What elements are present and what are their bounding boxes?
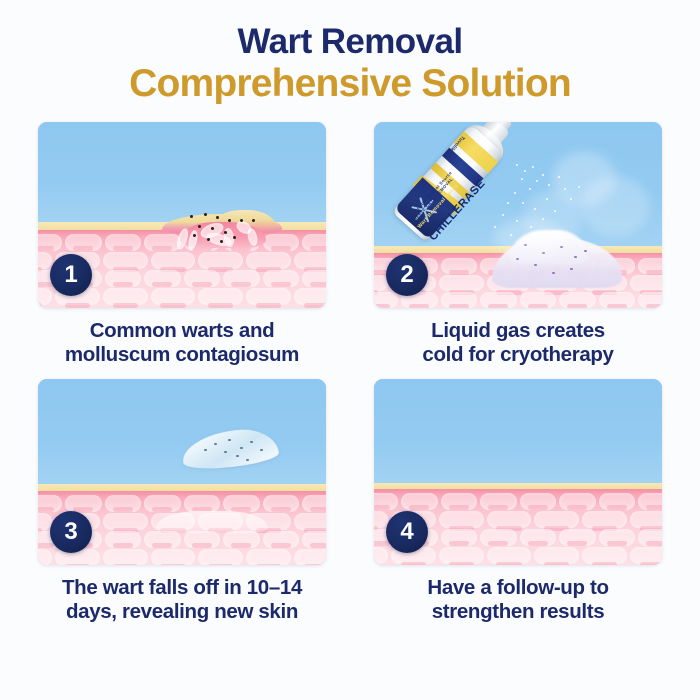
- skin-cell: [534, 547, 579, 564]
- skin-cell: [184, 270, 221, 287]
- skin-cell: [144, 495, 181, 512]
- skin-cell: [630, 511, 662, 528]
- step-2-caption-line1: Liquid gas creates: [431, 319, 605, 342]
- skin-cell: [151, 252, 196, 269]
- steps-grid: 1 Common warts and molluscum contagiosum: [38, 122, 662, 624]
- skin-cell: [441, 529, 478, 546]
- step-1-illustration: 1: [38, 122, 326, 308]
- skin-cell: [374, 547, 388, 564]
- skin-cell: [65, 234, 102, 251]
- skin-cell: [103, 252, 148, 269]
- skin-cell: [439, 547, 484, 564]
- step-card-2: Tuvolika CHILLERASE Wart Removal Spray F…: [374, 122, 662, 367]
- skin-cell: [38, 288, 52, 305]
- page-title-line2: Comprehensive Solution: [0, 62, 700, 106]
- skin-cell: [441, 493, 478, 510]
- step-4-caption-line1: Have a follow-up to: [427, 576, 608, 599]
- skin-cell: [65, 495, 102, 512]
- skin-cell: [487, 547, 532, 564]
- step-1-caption-line2: molluscum contagiosum: [38, 343, 326, 367]
- step-number-badge-1: 1: [50, 254, 92, 296]
- step-1-caption: Common warts and molluscum contagiosum: [38, 319, 326, 367]
- skin-cell: [105, 234, 142, 251]
- skin-cell: [263, 270, 300, 287]
- skin-cell: [480, 529, 517, 546]
- skin-cell: [582, 547, 627, 564]
- skin-cell: [246, 549, 291, 565]
- skin-cell: [302, 234, 326, 251]
- step-card-1: 1 Common warts and molluscum contagiosum: [38, 122, 326, 367]
- skin-cell: [302, 270, 326, 287]
- step-2-caption-line2: cold for cryotherapy: [374, 343, 662, 367]
- skin-cell: [263, 495, 300, 512]
- skin-cell: [599, 493, 636, 510]
- skin-cell: [294, 288, 326, 305]
- skin-cell: [302, 495, 326, 512]
- step-3-caption: The wart falls off in 10–14 days, reveal…: [38, 576, 326, 624]
- skin-cell: [263, 531, 300, 548]
- skin-cell: [401, 493, 438, 510]
- step-1-caption-line1: Common warts and: [90, 319, 275, 342]
- skin-cell: [151, 549, 196, 565]
- step-number-badge-3: 3: [50, 511, 92, 553]
- skin-cell: [246, 252, 291, 269]
- skin-cell: [534, 511, 579, 528]
- step-4-caption: Have a follow-up to strengthen results: [374, 576, 662, 624]
- skin-cell: [198, 288, 243, 305]
- skin-cell: [38, 549, 52, 565]
- healing-skin-patch: [156, 511, 268, 533]
- skin-cell: [246, 288, 291, 305]
- skin-cell: [38, 495, 62, 512]
- skin-cell: [638, 529, 662, 546]
- skin-cell: [144, 270, 181, 287]
- skin-cell: [520, 493, 557, 510]
- skin-cell: [105, 531, 142, 548]
- skin-cell: [638, 493, 662, 510]
- skin-cell: [294, 252, 326, 269]
- skin-cell: [559, 529, 596, 546]
- skin-cell: [559, 493, 596, 510]
- step-card-4: 4 Have a follow-up to strengthen results: [374, 379, 662, 624]
- skin-cell: [144, 531, 181, 548]
- skin-cell: [302, 531, 326, 548]
- step-4-caption-line2: strengthen results: [374, 600, 662, 624]
- skin-cell: [103, 549, 148, 565]
- skin-cell: [105, 270, 142, 287]
- skin-cell: [103, 513, 148, 530]
- skin-cell: [599, 529, 636, 546]
- skin-cell: [223, 270, 260, 287]
- skin-cell: [439, 511, 484, 528]
- step-4-illustration: 4: [374, 379, 662, 565]
- step-number-badge-2: 2: [386, 254, 428, 296]
- skin-cell: [198, 252, 243, 269]
- skin-cell: [294, 549, 326, 565]
- skin-cell: [151, 288, 196, 305]
- step-3-caption-line2: days, revealing new skin: [38, 600, 326, 624]
- skin-cell: [38, 234, 62, 251]
- skin-cell: [38, 252, 52, 269]
- skin-cell: [520, 529, 557, 546]
- skin-cell: [223, 531, 260, 548]
- step-number-badge-4: 4: [386, 511, 428, 553]
- step-2-caption: Liquid gas creates cold for cryotherapy: [374, 319, 662, 367]
- skin-cell: [582, 511, 627, 528]
- step-card-3: 3 The wart falls off in 10–14 days, reve…: [38, 379, 326, 624]
- page-title-line1: Wart Removal: [0, 22, 700, 61]
- skin-cell: [630, 547, 662, 564]
- step-3-caption-line1: The wart falls off in 10–14: [62, 576, 302, 599]
- page-title: Wart Removal Comprehensive Solution: [0, 0, 700, 106]
- skin-cell: [223, 495, 260, 512]
- skin-cell: [480, 493, 517, 510]
- skin-cell: [184, 531, 221, 548]
- skin-cell: [184, 495, 221, 512]
- skin-cell: [103, 288, 148, 305]
- skin-cell: [294, 513, 326, 530]
- skin-cell: [198, 549, 243, 565]
- skin-cell: [105, 495, 142, 512]
- step-3-illustration: 3: [38, 379, 326, 565]
- wart-lesion: [162, 206, 282, 248]
- skin-cell: [374, 493, 398, 510]
- skin-cell: [487, 511, 532, 528]
- step-2-illustration: Tuvolika CHILLERASE Wart Removal Spray F…: [374, 122, 662, 308]
